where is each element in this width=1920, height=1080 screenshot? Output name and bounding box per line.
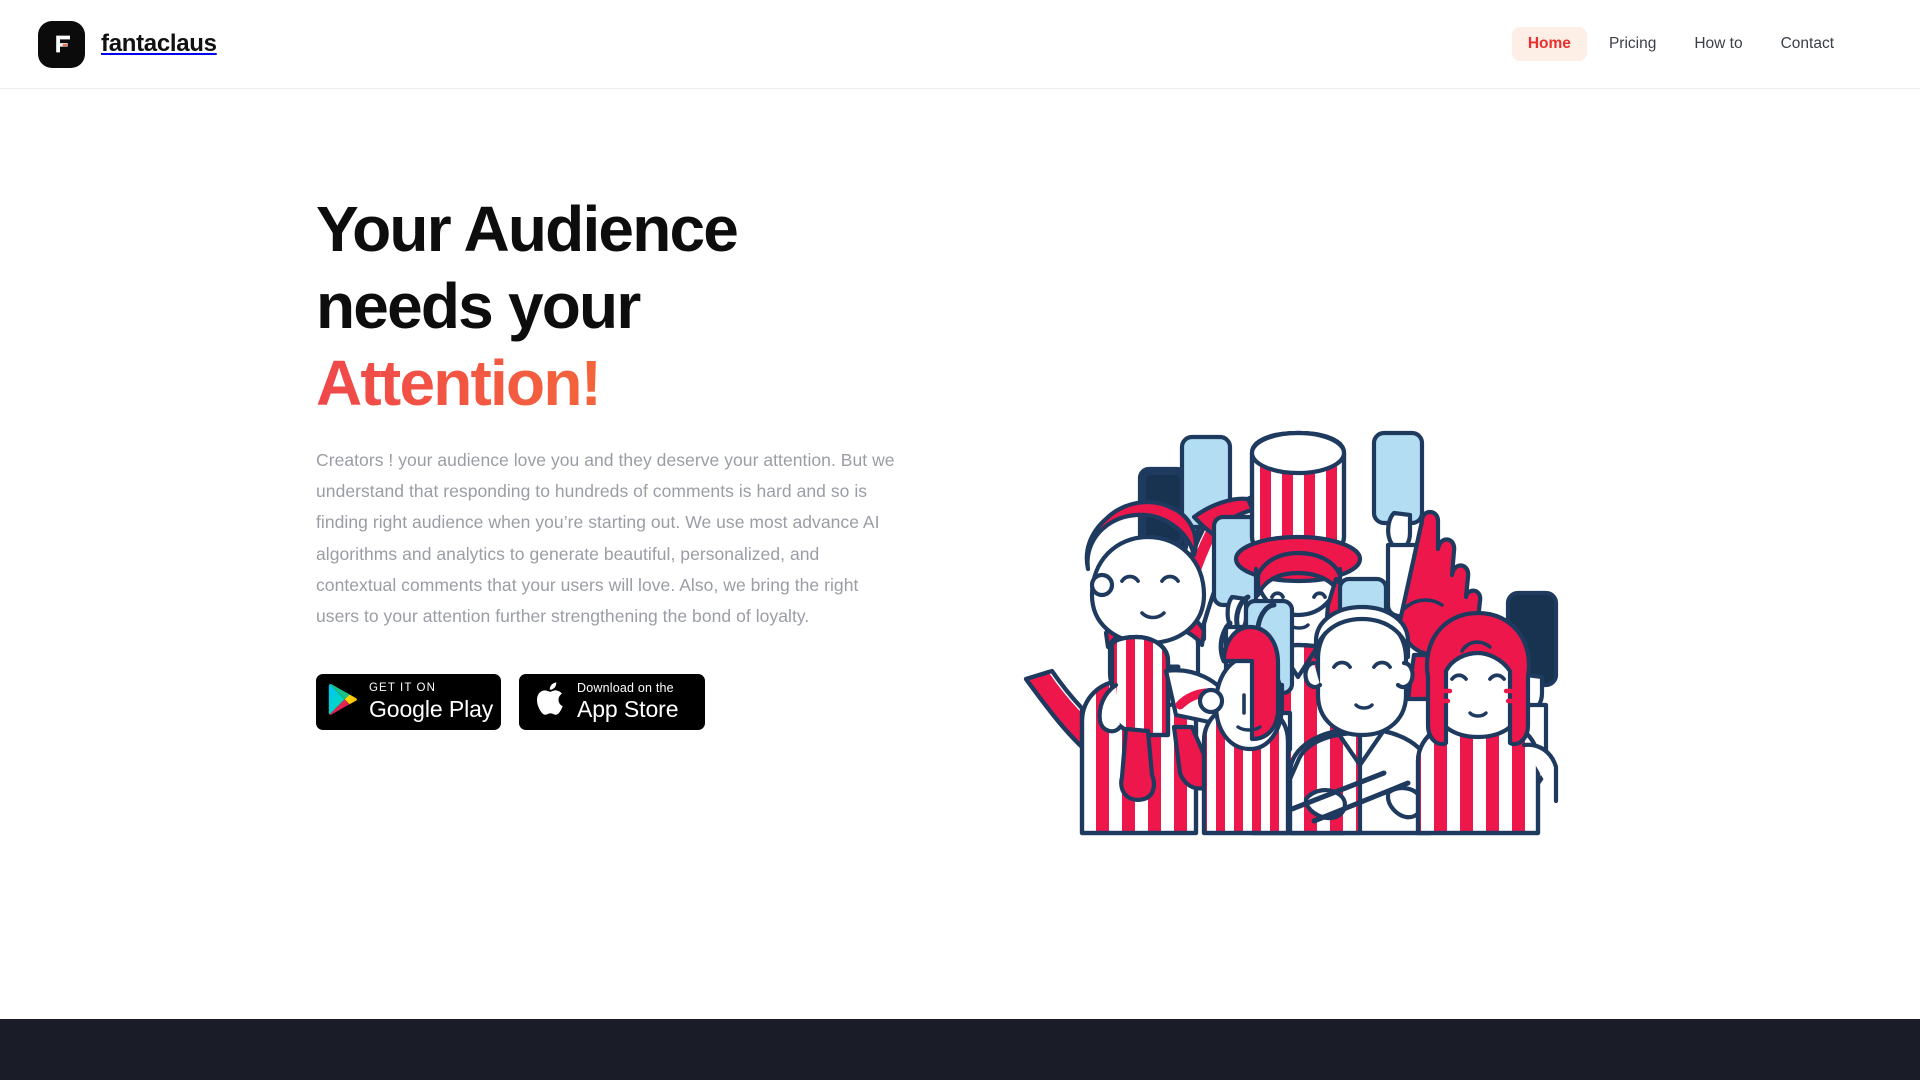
app-store-badge-toptext: Download on the [577,682,678,696]
hero-copy: Your Audience needs your Attention! Crea… [316,197,916,730]
sports-fans-crowd-with-phones-illustration [1018,409,1578,849]
brand-name: fantaclaus [101,32,217,56]
nav-link-contact[interactable]: Contact [1765,27,1850,61]
google-play-triangle-icon [328,683,358,721]
google-play-badge-bottomtext: Google Play [369,696,493,723]
app-store-badge-bottomtext: App Store [577,696,678,723]
app-store-badge-text: Download on the App Store [577,682,678,723]
hero-section: Your Audience needs your Attention! Crea… [0,89,1920,930]
flag-f-icon [38,21,85,68]
page-title: Your Audience needs your Attention! [316,197,916,415]
hero-description: Creators ! your audience love you and th… [316,445,904,632]
site-header: fantaclaus Home Pricing How to Contact [0,0,1920,89]
google-play-badge-text: GET IT ON Google Play [369,682,493,722]
apple-logo-icon [535,682,565,723]
hero-title-line-3-accent: Attention! [316,351,916,415]
dark-section [0,1019,1920,1080]
hero-title-line-1: Your Audience [316,197,916,261]
nav-link-pricing[interactable]: Pricing [1593,27,1672,61]
main-nav: Home Pricing How to Contact [1512,27,1850,61]
nav-link-home[interactable]: Home [1512,27,1587,61]
nav-link-how-to[interactable]: How to [1678,27,1758,61]
hero-title-line-2: needs your [316,274,916,338]
store-badges: GET IT ON Google Play Download on the Ap… [316,674,916,730]
google-play-badge-toptext: GET IT ON [369,682,493,695]
app-store-badge[interactable]: Download on the App Store [519,674,705,730]
google-play-badge[interactable]: GET IT ON Google Play [316,674,501,730]
brand-logo-link[interactable]: fantaclaus [38,0,217,88]
